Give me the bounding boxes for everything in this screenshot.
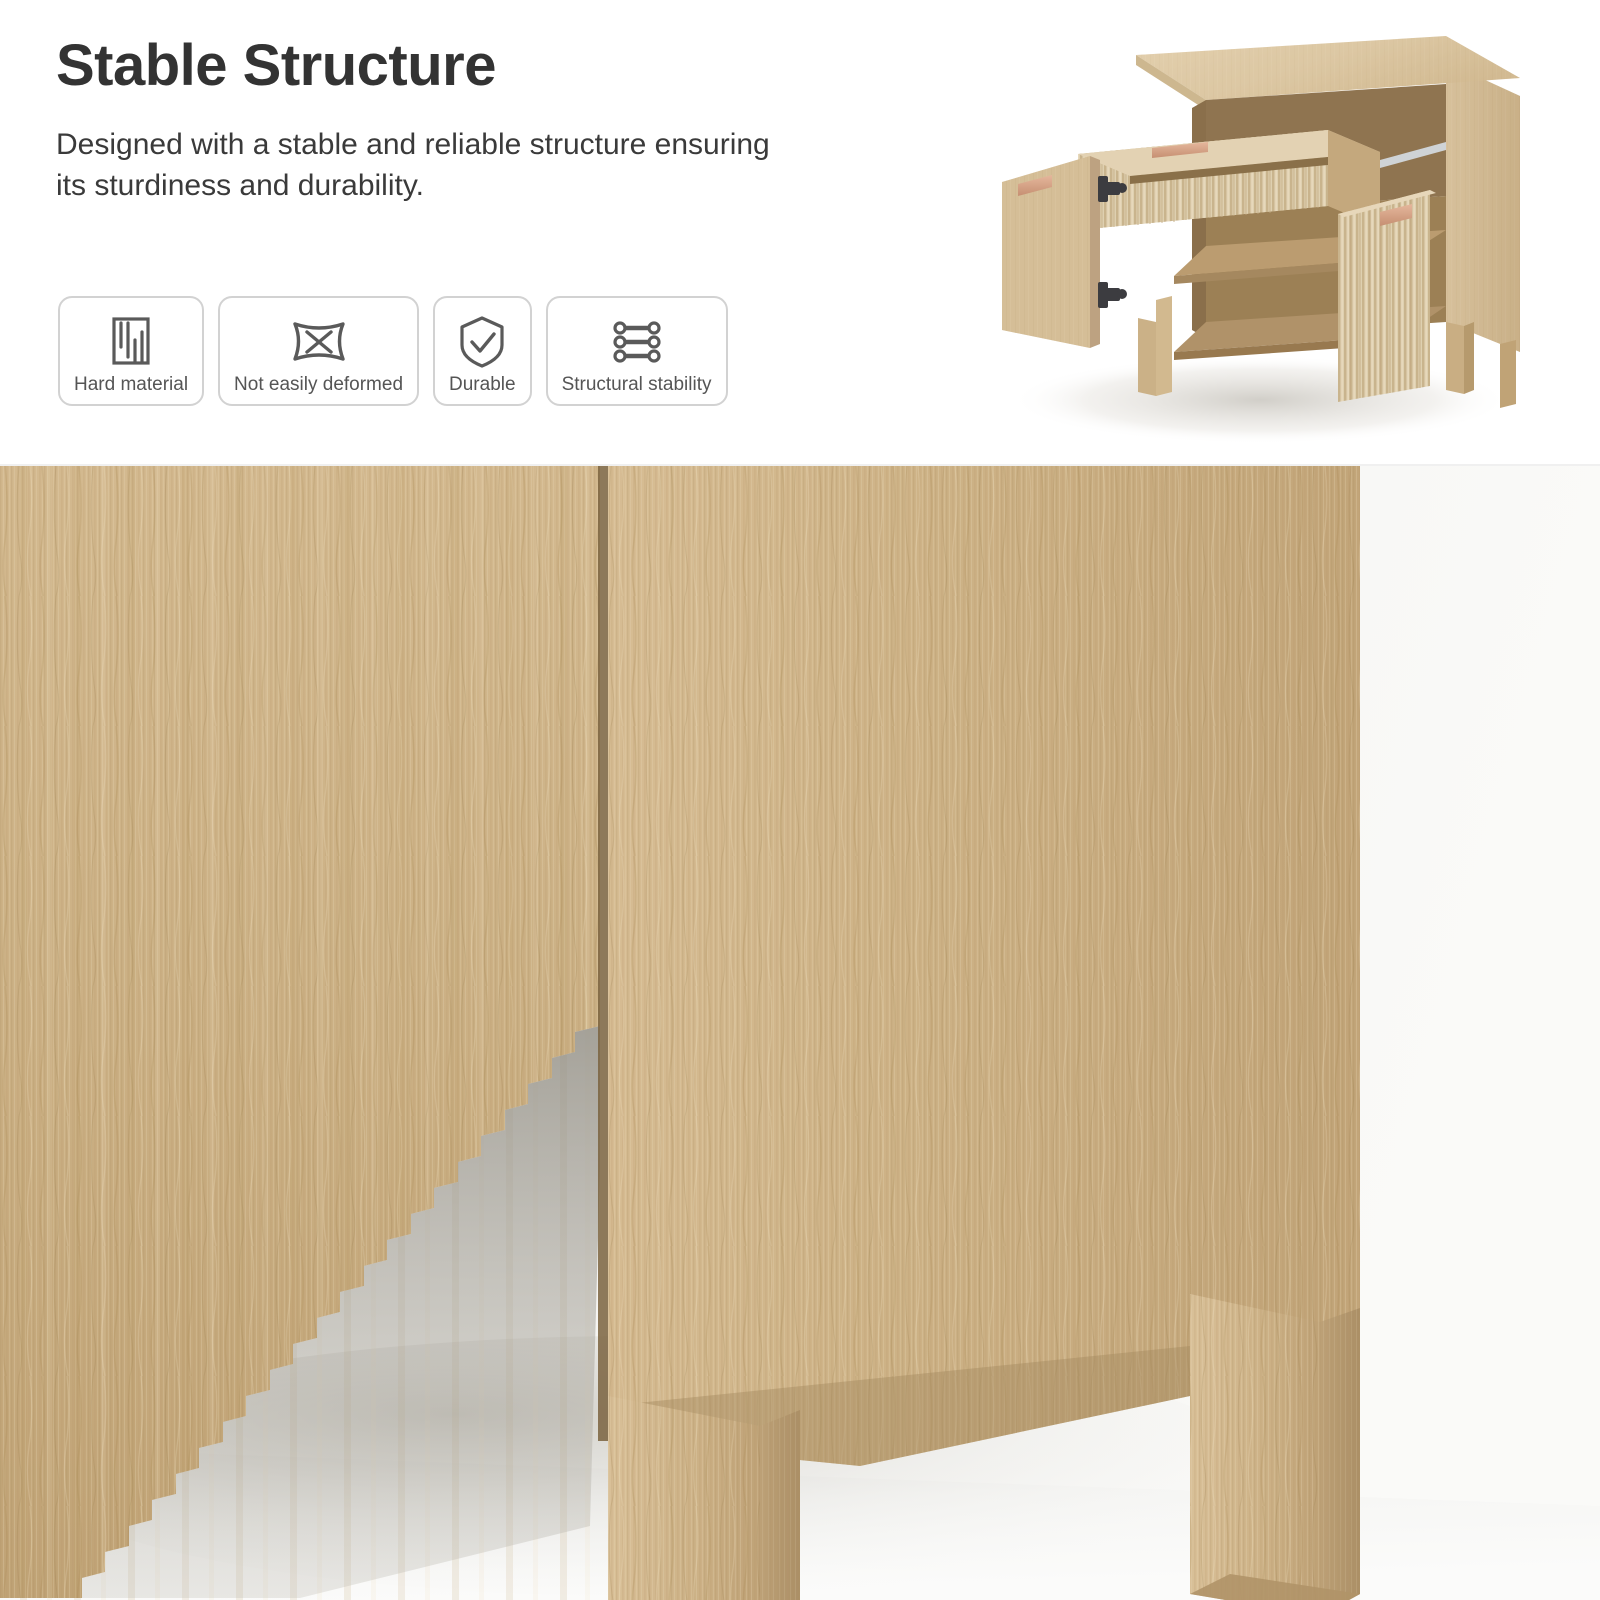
floor-shadow bbox=[1010, 356, 1510, 444]
three-connected-bars-icon bbox=[606, 312, 668, 372]
headline-block: Stable Structure Designed with a stable … bbox=[56, 36, 876, 206]
x-in-warped-rectangle-icon bbox=[286, 312, 352, 372]
feature-badge-structural-stability: Structural stability bbox=[546, 296, 728, 406]
feature-badge-label: Not easily deformed bbox=[234, 374, 403, 396]
left-front-leg bbox=[1138, 318, 1156, 396]
interior-left-wall bbox=[1192, 100, 1206, 338]
feature-badge-row: Hard material Not easily deformed bbox=[58, 296, 728, 406]
product-infographic: Stable Structure Designed with a stable … bbox=[0, 0, 1600, 1600]
page-title: Stable Structure bbox=[56, 36, 876, 97]
shield-check-icon bbox=[453, 312, 511, 372]
right-rear-leg-group bbox=[1190, 1294, 1360, 1600]
panel-seam bbox=[598, 466, 608, 1441]
feature-badge-hard-material: Hard material bbox=[58, 296, 204, 406]
left-front-leg-group bbox=[608, 1396, 800, 1600]
feature-badge-label: Hard material bbox=[74, 374, 188, 396]
right-rear-leg bbox=[1446, 322, 1464, 394]
feature-badge-not-easily-deformed: Not easily deformed bbox=[218, 296, 419, 406]
far-right-leg bbox=[1500, 340, 1516, 408]
cabinet-leg-closeup-photo bbox=[0, 466, 1600, 1600]
feature-badge-label: Structural stability bbox=[562, 374, 712, 396]
center-stile bbox=[1156, 296, 1172, 396]
top-info-panel: Stable Structure Designed with a stable … bbox=[0, 0, 1600, 465]
lower-hinge bbox=[1098, 282, 1127, 308]
page-subtitle: Designed with a stable and reliable stru… bbox=[56, 125, 796, 207]
feature-badge-durable: Durable bbox=[433, 296, 532, 406]
feature-badge-label: Durable bbox=[449, 374, 516, 396]
product-render-image bbox=[960, 0, 1600, 465]
wood-grain-square-icon bbox=[102, 312, 160, 372]
